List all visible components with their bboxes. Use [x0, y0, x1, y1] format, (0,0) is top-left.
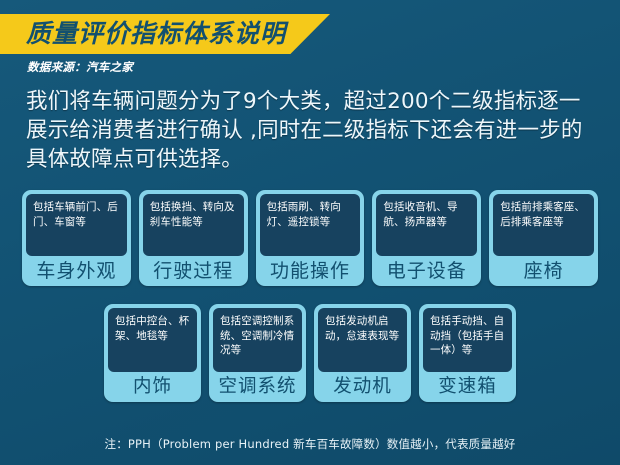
category-row-secondary: 包括中控台、杯架、地毯等 内饰 包括空调控制系统、空调制冷情况等 空调系统 包括…	[104, 304, 516, 402]
footnote: 注：PPH（Problem per Hundred 新车百车故障数）数值越小，代…	[0, 436, 620, 452]
category-description: 包括中控台、杯架、地毯等	[108, 308, 197, 372]
title-banner: 质量评价指标体系说明	[0, 14, 330, 54]
category-card: 包括收音机、导航、扬声器等 电子设备	[372, 190, 481, 286]
category-row-primary: 包括车辆前门、后门、车窗等 车身外观 包括换挡、转向及刹车性能等 行驶过程 包括…	[22, 190, 598, 286]
category-card: 包括发动机启动，怠速表现等 发动机	[314, 304, 411, 402]
category-label: 行驶过程	[143, 256, 244, 286]
category-description: 包括收音机、导航、扬声器等	[376, 194, 477, 256]
page-title: 质量评价指标体系说明	[26, 14, 286, 54]
category-card: 包括前排乘客座、后排乘客座等 座椅	[489, 190, 598, 286]
category-label: 变速箱	[423, 372, 512, 402]
category-card: 包括车辆前门、后门、车窗等 车身外观	[22, 190, 131, 286]
category-card: 包括中控台、杯架、地毯等 内饰	[104, 304, 201, 402]
category-card: 包括雨刷、转向灯、遥控锁等 功能操作	[256, 190, 365, 286]
category-card: 包括换挡、转向及刹车性能等 行驶过程	[139, 190, 248, 286]
infographic-poster: 质量评价指标体系说明 数据来源：汽车之家 我们将车辆问题分为了9个大类，超过20…	[0, 0, 620, 465]
category-card: 包括手动挡、自动挡（包括手自一体）等 变速箱	[419, 304, 516, 402]
category-description: 包括前排乘客座、后排乘客座等	[493, 194, 594, 256]
category-label: 发动机	[318, 372, 407, 402]
category-label: 座椅	[493, 256, 594, 286]
category-label: 电子设备	[376, 256, 477, 286]
category-card: 包括空调控制系统、空调制冷情况等 空调系统	[209, 304, 306, 402]
category-description: 包括车辆前门、后门、车窗等	[26, 194, 127, 256]
intro-paragraph: 我们将车辆问题分为了9个大类，超过200个二级指标逐一展示给消费者进行确认 ,同…	[26, 87, 596, 174]
data-source-label: 数据来源：汽车之家	[27, 59, 133, 75]
category-label: 内饰	[108, 372, 197, 402]
category-label: 车身外观	[26, 256, 127, 286]
category-description: 包括发动机启动，怠速表现等	[318, 308, 407, 372]
category-description: 包括换挡、转向及刹车性能等	[143, 194, 244, 256]
category-label: 功能操作	[260, 256, 361, 286]
category-description: 包括雨刷、转向灯、遥控锁等	[260, 194, 361, 256]
category-description: 包括手动挡、自动挡（包括手自一体）等	[423, 308, 512, 372]
category-description: 包括空调控制系统、空调制冷情况等	[213, 308, 302, 372]
category-label: 空调系统	[213, 372, 302, 402]
